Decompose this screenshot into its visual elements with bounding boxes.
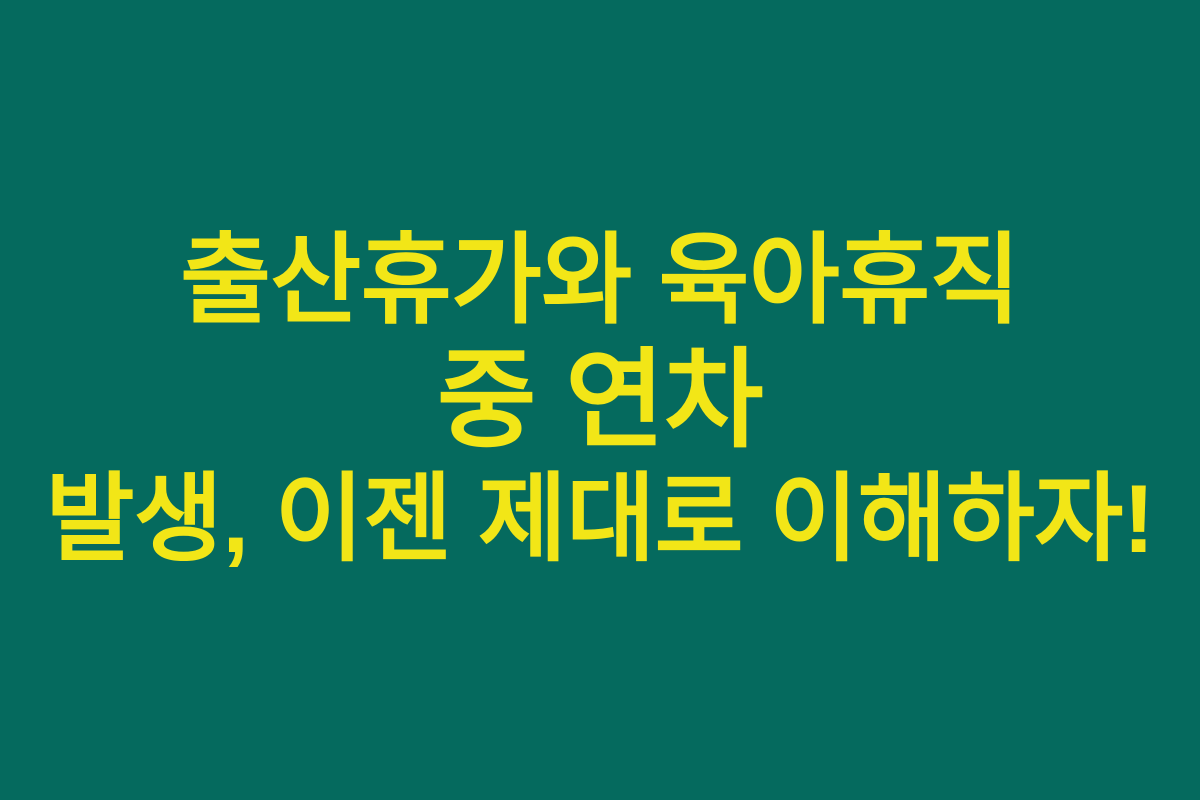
headline-text: 출산휴가와 육아휴직 중 연차 발생, 이젠 제대로 이해하자!	[0, 220, 1200, 580]
headline-line-2: 중 연차	[0, 340, 1200, 460]
title-card-banner: 출산휴가와 육아휴직 중 연차 발생, 이젠 제대로 이해하자!	[0, 0, 1200, 800]
headline-line-3: 발생, 이젠 제대로 이해하자!	[0, 460, 1200, 580]
headline-line-1: 출산휴가와 육아휴직	[0, 220, 1200, 340]
